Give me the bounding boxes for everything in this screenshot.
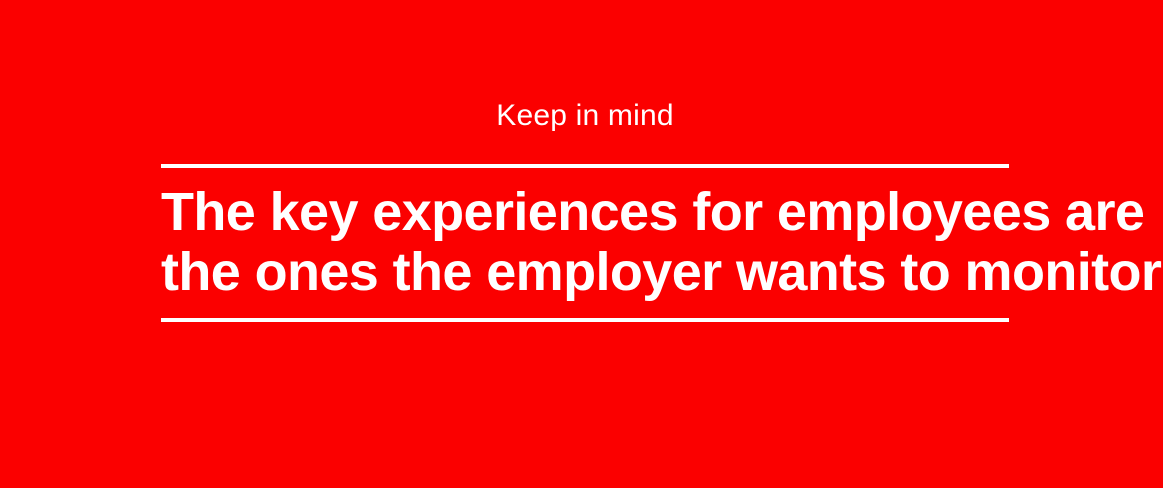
eyebrow-label: Keep in mind: [161, 96, 1009, 136]
divider-bottom: [161, 318, 1009, 322]
callout-block: Keep in mind The key experiences for emp…: [161, 96, 1009, 322]
headline-line-2: the ones the employer wants to monitor: [161, 242, 1009, 302]
headline-line-1: The key experiences for employees are: [161, 182, 1009, 242]
page-title: The key experiences for employees are th…: [161, 168, 1009, 302]
slide-canvas: Keep in mind The key experiences for emp…: [0, 0, 1163, 488]
